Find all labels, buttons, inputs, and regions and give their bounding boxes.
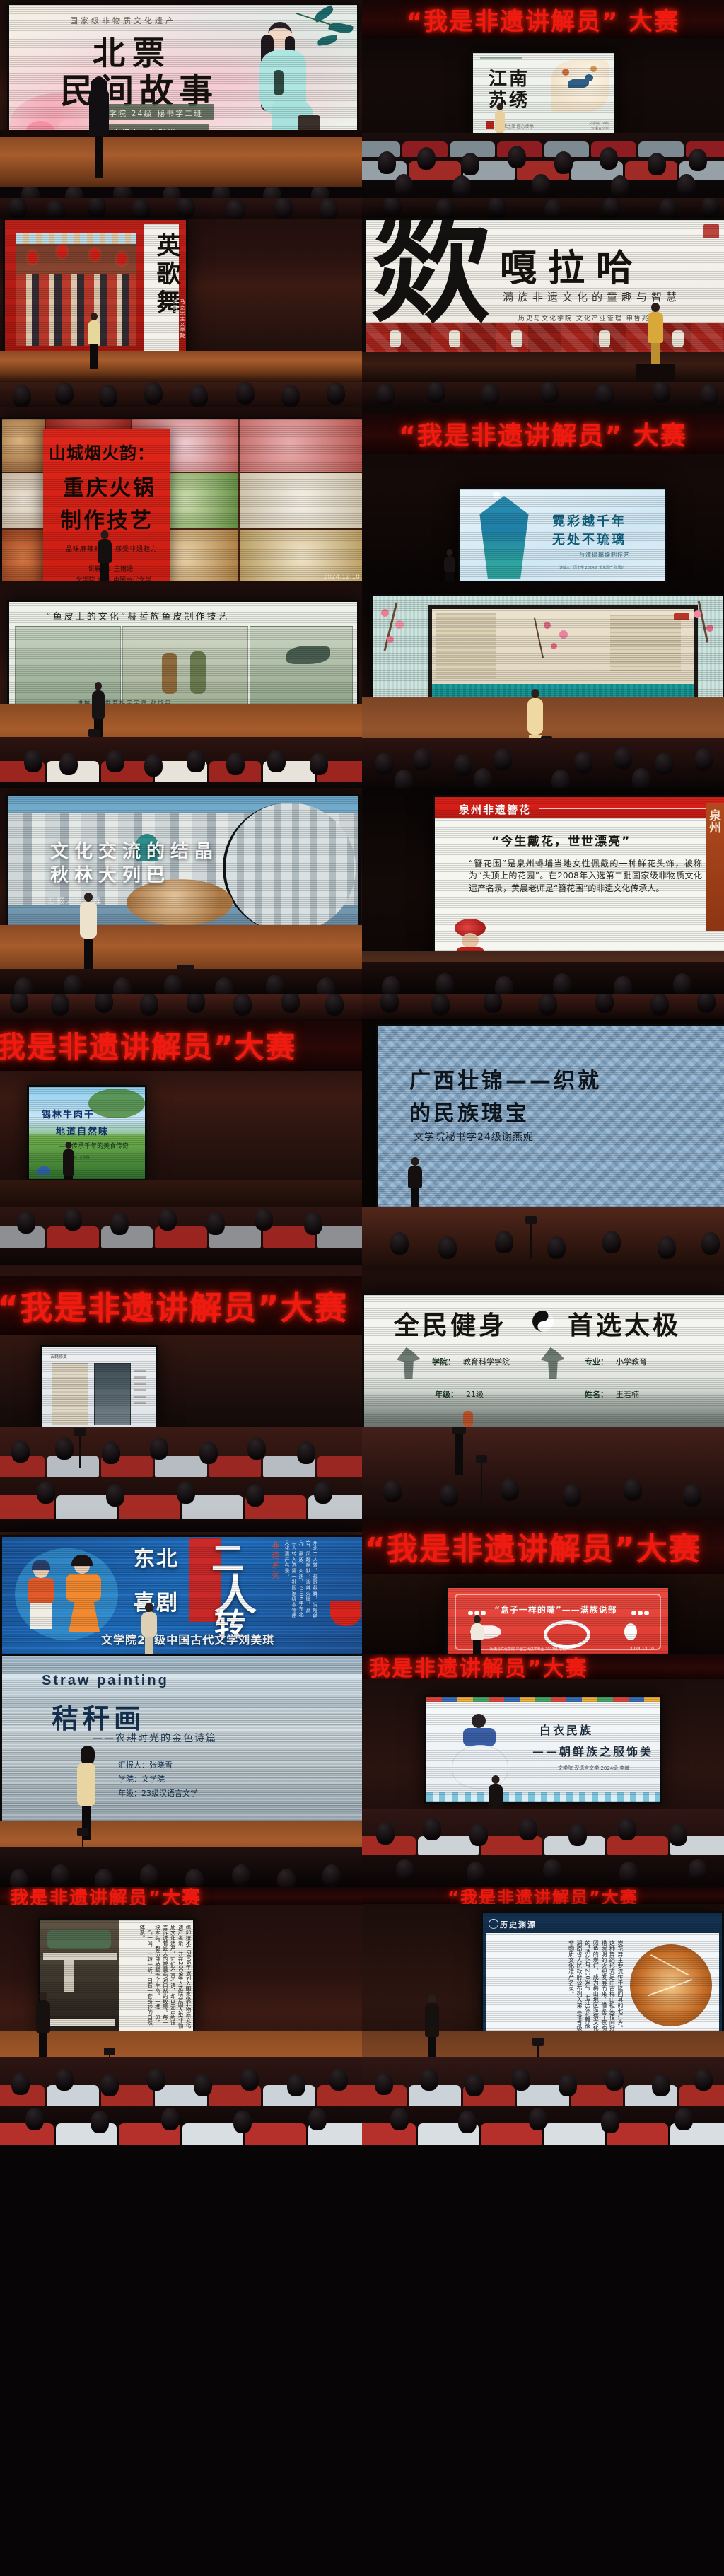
event-banner: 我是非遗讲解员”大赛 <box>0 1887 362 1905</box>
audience-area <box>0 737 362 788</box>
food-photo-tile <box>240 473 362 528</box>
audience-head <box>554 151 573 174</box>
slide-header: 历史渊源 <box>500 1919 537 1930</box>
audience-head <box>452 175 471 198</box>
stage-floor <box>0 351 362 382</box>
audience-head <box>164 975 182 994</box>
audience-head <box>21 187 40 198</box>
presenter-head <box>66 1142 72 1149</box>
seat <box>119 1495 180 1519</box>
calligraphy-block <box>610 615 681 671</box>
presenter-figure <box>85 313 103 368</box>
slide-mortise-tenon: 榫卯技术在2006年被列入国家级非物质文化遗产名录，并在2009年入选联合国人类… <box>40 1920 193 2033</box>
slide-gelaha: 欻 嘎拉哈 满族非遗文化的童趣与智慧 历史与文化学院 文化产业管理 申鲁兆 <box>366 220 724 354</box>
photo-cell-p08[interactable] <box>362 581 724 788</box>
audience-head <box>150 1437 168 1460</box>
audience-head <box>99 385 117 407</box>
audience-head <box>508 146 526 168</box>
slide-subtitle: 满族非遗文化的童趣与智慧 <box>503 289 681 304</box>
audience-head <box>396 1859 414 1881</box>
audience-head <box>11 1440 30 1463</box>
slide-xilin-beef: 锡林牛肉干 地道自然味 ——传承千年的美食传奇 学院：文学院 <box>29 1087 145 1179</box>
slide-chongqing-hotpot: 山城烟火韵： 重庆火锅 制作技艺 品味麻辣鲜香，感受非遗魅力 讲解人：王雨涵 文… <box>2 419 362 581</box>
slide-title-line2: 重庆火锅 <box>63 470 156 501</box>
audience-head <box>431 994 450 1016</box>
audience-head <box>614 976 632 994</box>
audience-head <box>611 175 629 198</box>
ink-landscape <box>364 1386 724 1427</box>
seat-row <box>0 2123 362 2145</box>
event-banner-text: “我是非遗讲解员”大赛 <box>448 1887 638 1904</box>
audience-front-row <box>0 198 362 219</box>
audience-area <box>0 2057 362 2145</box>
audience-area <box>362 738 724 788</box>
slide-title: “鱼皮上的文化”赫哲族鱼皮制作技艺 <box>46 609 229 622</box>
lantern-icon <box>90 248 100 261</box>
audience-head <box>327 382 345 405</box>
seat <box>317 1226 362 1248</box>
presenter-head <box>651 303 660 312</box>
bamboo-decoration <box>480 57 522 59</box>
audience-head <box>106 750 124 772</box>
led-screen: 欻 嘎拉哈 满族非遗文化的童趣与智慧 历史与文化学院 文化产业管理 申鲁兆 <box>363 218 724 356</box>
jade-ornament <box>511 330 522 347</box>
photo-cell-p01[interactable]: 国家级非物质文化遗产 北票 民间故事 文学院 24级 秘书学二班 介绍人：张雅琪 <box>0 0 362 198</box>
audience-head <box>24 750 42 772</box>
presenter-body <box>425 2003 439 2037</box>
lantern-icon <box>28 251 37 264</box>
seat <box>47 2085 98 2106</box>
audience-front-row <box>362 382 724 406</box>
audience-head <box>551 770 570 788</box>
presenter-figure <box>468 1615 486 1654</box>
audience-head <box>650 994 669 1016</box>
presenter-legs <box>145 1637 153 1654</box>
audience-head <box>395 174 413 197</box>
presenter-head <box>84 893 93 902</box>
presenter-body <box>80 902 97 939</box>
led-screen: 古籍修复 <box>40 1345 158 1427</box>
audience-head <box>539 994 557 1016</box>
audience-head <box>47 199 65 219</box>
presenter-legs <box>95 136 103 178</box>
audience-head <box>314 1481 332 1504</box>
artifact-photo <box>94 1363 131 1425</box>
audience-head <box>263 187 281 198</box>
presenter-body <box>98 539 112 563</box>
audience-head <box>378 151 396 174</box>
slide-title-left: 全民健身 <box>394 1305 507 1342</box>
audience-head <box>574 751 592 774</box>
presenter-legs <box>90 344 98 369</box>
audience-head <box>64 1208 82 1231</box>
calligraphy-block <box>436 613 496 678</box>
slide-title-line2: 无处不琉璃 <box>552 530 626 548</box>
audience-head <box>605 2068 624 2091</box>
audience-front-row <box>362 198 724 219</box>
camera-tripod <box>481 1461 482 1502</box>
audience-back-row <box>362 1207 724 1270</box>
event-banner-text: “我是非遗讲解员” 大赛 <box>399 415 687 452</box>
slide-harbin-bread: 文化交流的结晶 秋林大列巴 汇报人：李程 <box>8 796 358 940</box>
audience-head <box>382 976 400 994</box>
food-photo-tile <box>2 473 45 528</box>
slide-title-line2: 的民族瑰宝 <box>409 1096 530 1127</box>
audience-head <box>100 2074 119 2096</box>
lantern-icon <box>463 1411 473 1427</box>
presenter-body <box>471 1623 484 1640</box>
collage-row: 文化交流的结晶 秋林大列巴 汇报人：李程 <box>0 788 724 994</box>
slide-tag: 非遗系列 <box>269 1541 281 1581</box>
audience-head <box>277 1869 296 1887</box>
slide-credit: 讲解人：历史学 2024级 文化遗产 张思远 <box>559 565 625 570</box>
figure-illustration <box>162 653 177 694</box>
slide-title: 秸秆画 <box>52 1697 145 1736</box>
photo-cell-p07[interactable]: “鱼皮上的文化”赫哲族鱼皮制作技艺 讲解员：教育科学学院 赵欣冉 <box>0 581 362 788</box>
audience-head <box>10 994 28 1013</box>
slide-title-line1: 锡林牛肉干 <box>42 1107 95 1120</box>
audience-head <box>325 994 344 1016</box>
slide-credit-line1: 马克思主义学院 <box>179 299 186 339</box>
wood-piece <box>64 1960 74 1992</box>
presenter-head <box>101 530 109 539</box>
audience-head <box>233 2111 252 2133</box>
seat <box>317 1456 362 1477</box>
audience-head <box>701 198 720 219</box>
audience-head <box>474 768 492 788</box>
audience-head <box>144 382 163 405</box>
slide-title-line2: 秋林大列巴 <box>50 861 170 887</box>
plum-painting <box>537 617 586 661</box>
slide-title-line1: 霓彩越千年 <box>552 511 626 530</box>
audience-head <box>495 976 513 994</box>
presenter-body <box>88 320 100 344</box>
audience-head <box>669 1823 687 1846</box>
led-screen: “鱼皮上的文化”赫哲族鱼皮制作技艺 讲解员：教育科学学院 赵欣冉 <box>7 600 359 710</box>
presenter-body <box>527 698 543 735</box>
audience-area <box>0 187 362 198</box>
photo-cell-p11[interactable]: 我是非遗讲解员”大赛 锡林牛肉干 地道自然味 ——传承千年的美食传奇 学院：文学… <box>0 994 362 1207</box>
audience-head <box>675 2108 693 2130</box>
audience-area <box>362 962 724 994</box>
audience-head <box>632 768 650 788</box>
audience-area <box>362 2057 724 2145</box>
audience-head <box>64 975 82 994</box>
audience-head <box>458 2111 477 2133</box>
slide-ancient-books: 古籍修复 <box>42 1347 156 1427</box>
audience-head <box>595 383 614 406</box>
dot-ornament <box>631 1606 650 1619</box>
audience-head <box>106 1484 124 1507</box>
pagoda-sparkle <box>493 492 500 499</box>
presenter-figure <box>78 893 99 972</box>
audience-head <box>177 198 195 219</box>
slide-title-line1: 文化交流的结晶 <box>50 837 218 863</box>
presenter-figure <box>34 1992 52 2062</box>
presenter-head <box>90 313 98 320</box>
slide-credit: 历史与文化学院 文化产业管理 申鲁兆 <box>518 313 650 323</box>
led-screen: 山城烟火韵： 重庆火锅 制作技艺 品味麻辣鲜香，感受非遗魅力 讲解人：王雨涵 文… <box>0 417 362 581</box>
photo-cell-p17[interactable]: Straw painting 秸秆画 ——农耕时光的金色诗篇 汇报人：张晓雪 学… <box>0 1654 362 1887</box>
event-banner-text: 我是非遗讲解员”大赛 <box>369 1654 588 1679</box>
audience-head <box>161 2108 180 2130</box>
audience-head <box>13 385 31 407</box>
photo-cell-p19[interactable]: 我是非遗讲解员”大赛 榫卯技术在2006年被列入国家级非物质文化遗产名录，并在2… <box>0 1887 362 2145</box>
dragon-ornament <box>544 1620 590 1649</box>
field-major-value: 小学教育 <box>616 1356 647 1367</box>
presenter-body <box>36 2000 50 2033</box>
led-screen: Straw painting 秸秆画 ——农耕时光的金色诗篇 汇报人：张晓雪 学… <box>0 1654 362 1825</box>
audience-head <box>467 1862 485 1884</box>
presenter-figure <box>139 1603 160 1654</box>
slide-credit: 文学院24级中国古代文学刘美琪 <box>101 1630 274 1647</box>
tree-canopy <box>88 1089 145 1118</box>
led-screen: 历史渊源 炭花舞主要流传于隆回县的七江乡。这种舞蹈形式是由古梅山祖先夜间狩猎照明… <box>481 1911 724 2041</box>
audience-head <box>440 1484 458 1507</box>
slide-title-right: 首选太极 <box>568 1305 681 1342</box>
audience-head <box>140 994 158 1016</box>
sparks-photo <box>630 1944 712 2026</box>
audience-head <box>311 187 329 198</box>
led-screen: 全民健身 首选太极 学院： 教育科学学院 专业： 小学教育 年级： 21级 姓名… <box>362 1293 724 1427</box>
audience-head <box>652 2074 670 2096</box>
slide-date: 2024.12.10 <box>323 574 360 581</box>
audience-head <box>281 994 300 1013</box>
seal-stamp <box>674 613 689 620</box>
event-banner-text: 我是非遗讲解员”大赛 <box>10 1887 202 1905</box>
presenter-head <box>95 682 102 690</box>
audience-head <box>602 198 621 219</box>
bottom-pattern <box>426 1792 660 1802</box>
audience-head <box>454 754 472 777</box>
audience-head <box>308 2108 327 2130</box>
slide-title-line3: 制作技艺 <box>60 503 153 534</box>
seat <box>362 2123 416 2145</box>
audience-back-row <box>0 1207 362 1265</box>
presenter-head <box>145 1603 153 1612</box>
audience-front-row <box>0 382 362 407</box>
collage-row: 我是非遗讲解员”大赛 锡林牛肉干 地道自然味 ——传承千年的美食传奇 学院：文学… <box>0 994 724 1207</box>
audience-head <box>380 994 399 1013</box>
fishskin-panel <box>122 626 248 705</box>
audience-head <box>601 2111 619 2133</box>
slide-credit: 历史与文化学院 中国古代汉学专业 2023级 李凯 <box>490 1647 566 1652</box>
audience-head <box>494 748 512 771</box>
audience-head <box>481 383 499 406</box>
audience-head <box>88 198 106 218</box>
audience-head <box>413 748 431 771</box>
event-banner: 我是非遗讲解员”大赛 <box>0 1019 362 1071</box>
presenter-figure <box>441 549 458 581</box>
audience-head <box>689 1859 707 1881</box>
presenter-figure <box>406 1157 424 1207</box>
presenter-legs <box>445 572 454 581</box>
slide-title: “盒子一样的嘴”——满族说部 <box>494 1603 617 1615</box>
presenter-figure <box>85 76 113 182</box>
field-college-value: 教育科学学院 <box>463 1356 510 1367</box>
slide-fishskin: “鱼皮上的文化”赫哲族鱼皮制作技艺 讲解员：教育科学学院 赵欣冉 <box>9 602 357 708</box>
audience-head <box>495 1231 513 1253</box>
audience-head <box>658 1236 676 1259</box>
hanfu-lady-illustration <box>235 22 320 142</box>
seat-row <box>0 2085 362 2106</box>
photo-cell-p18[interactable]: 我是非遗讲解员”大赛 白衣民族 ——朝鲜族之服饰美 文学院 汉语言文学 2024… <box>362 1654 724 1887</box>
audience-head <box>51 994 69 1016</box>
event-banner-text: “我是非遗讲解员”大赛 <box>0 1282 348 1329</box>
audience-head <box>543 1859 561 1881</box>
audience-head <box>329 2068 348 2091</box>
audience-head <box>322 1864 341 1887</box>
photo-cell-p02[interactable]: “我是非遗讲解员” 大赛 江南 苏绣 苏绣之美 匠心传承 文学院 24级汉语言文… <box>362 0 724 198</box>
audience-head <box>420 2068 438 2091</box>
field-college-label: 学院： <box>432 1356 455 1367</box>
audience-head <box>375 753 393 775</box>
led-screen: 霓彩越千年 无处不琉璃 ——台湾琉璃烧制技艺 讲解人：历史学 2024级 文化遗… <box>458 487 667 581</box>
photo-cell-p14[interactable]: 全民健身 首选太极 学院： 教育科学学院 专业： 小学教育 年级： 21级 姓名… <box>362 1207 724 1427</box>
seat <box>409 161 460 180</box>
audience-head <box>158 1208 177 1231</box>
audience-head <box>102 1441 120 1464</box>
slide-title: 嘎拉哈 <box>500 238 644 291</box>
photo-cell-p20[interactable]: “我是非遗讲解员”大赛 历史渊源 炭花舞主要流传于隆回县的七江乡。这种舞蹈形式是… <box>362 1887 724 2145</box>
audience-back-row <box>0 994 362 1019</box>
photo-cell-p05[interactable]: 山城烟火韵： 重庆火锅 制作技艺 品味麻辣鲜香，感受非遗魅力 讲解人：王雨涵 文… <box>0 382 362 581</box>
photo-cell-p12[interactable]: 广西壮锦——织就 的民族瑰宝 文学院秘书学24级谢燕妮 <box>362 994 724 1207</box>
seat <box>47 1456 98 1477</box>
wood-piece <box>45 2019 115 2026</box>
audience-head <box>304 1212 322 1235</box>
audience-head <box>700 383 718 406</box>
event-banner: 我是非遗讲解员”大赛 <box>362 1654 724 1679</box>
podium <box>636 364 675 382</box>
presenter-figure <box>75 1747 98 1839</box>
audience-head <box>375 2072 393 2095</box>
audience-head <box>10 1869 28 1887</box>
audience-head <box>140 1864 158 1887</box>
color-stripe <box>426 1697 660 1702</box>
photo-cell-p09[interactable]: 文化交流的结晶 秋林大列巴 汇报人：李程 <box>0 788 362 994</box>
event-banner: “我是非遗讲解员”大赛 <box>362 1887 724 1904</box>
jade-ornament <box>390 330 401 347</box>
photo-cell-p10[interactable]: 泉州非遗簪花 “今生戴花，世世漂亮” “簪花围”是泉州蟳埔当地女性佩戴的一种鲜花… <box>362 788 724 994</box>
audience-head <box>8 198 27 219</box>
photo-cell-p03[interactable]: 英歌舞 马克思主义学院 讲解员：李梦璐 <box>0 198 362 382</box>
audience-head <box>247 1437 266 1460</box>
side-banner-text: 泉州 <box>705 809 723 833</box>
food-photo-tile <box>2 530 45 581</box>
slide-eyebrow: Straw painting <box>42 1673 169 1689</box>
circle-photo-inset <box>223 803 356 933</box>
presenter-head <box>428 1995 436 2003</box>
pagoda-illustration <box>470 496 538 579</box>
audience-head <box>59 753 78 775</box>
dancers-crowd <box>16 274 136 346</box>
audience-head <box>95 994 113 1013</box>
photo-cell-p06[interactable]: “我是非遗讲解员” 大赛 霓彩越千年 无处不琉璃 ——台湾琉璃烧制技艺 讲解人：… <box>362 382 724 581</box>
audience-head <box>17 1211 35 1234</box>
event-banner-text: “我是非遗讲解员” 大赛 <box>407 2 680 37</box>
presenter-body <box>408 1166 422 1188</box>
audience-area <box>362 133 724 198</box>
slide-subtitle: ——农耕时光的金色诗篇 <box>93 1731 217 1745</box>
presenter-legs <box>455 1434 463 1475</box>
audience-head <box>287 2074 305 2096</box>
slide-credit: 文学院 汉语言文学 2024级 李楠 <box>558 1765 630 1772</box>
slide-title-line2: 地道自然味 <box>56 1124 109 1137</box>
audience-head <box>95 1869 113 1887</box>
audience-back-row <box>0 1427 362 1532</box>
led-screen: 白衣民族 ——朝鲜族之服饰美 文学院 汉语言文学 2024级 李楠 <box>424 1695 662 1804</box>
collage-row: “我是非遗讲解员”大赛 古籍修复 全民 <box>0 1207 724 1427</box>
audience-head <box>547 1236 566 1259</box>
slide-body: 炭花舞主要流传于隆回县的七江乡。这种舞蹈形式是由古梅山祖先夜间狩猎照明的火把发展… <box>493 1940 624 2031</box>
audience-head <box>132 198 150 219</box>
slide-title-line1: 东北 <box>134 1541 179 1572</box>
photo-cell-p15[interactable]: 东北 喜剧 二 人 转 非遗系列 东北二人转，载歌载舞，说唱结合，风趣幽默，泼辣… <box>0 1427 362 1654</box>
jade-ornament <box>672 330 684 347</box>
slide-date: 2024.12.10 <box>630 1647 654 1652</box>
led-screen: 榫卯技术在2006年被列入国家级非物质文化遗产名录，并在2009年入选联合国人类… <box>38 1918 195 2036</box>
audience-head <box>215 977 233 994</box>
plum-branch <box>377 602 426 658</box>
artifact-label <box>134 1369 146 1404</box>
photo-cell-p16[interactable]: “我是非遗讲解员”大赛 “盒子一样的嘴”——满族说部 历史与文化学院 中国古代汉… <box>362 1427 724 1654</box>
audience-head <box>113 187 132 198</box>
audience-head <box>317 977 335 994</box>
led-screen: 东北 喜剧 二 人 转 非遗系列 东北二人转，载歌载舞，说唱结合，风趣幽默，泼辣… <box>0 1535 362 1654</box>
presenter-figure <box>450 1427 468 1478</box>
seat <box>245 2123 306 2145</box>
audience-head <box>390 1232 409 1255</box>
collage-row: 东北 喜剧 二 人 转 非遗系列 东北二人转，载歌载舞，说唱结合，风趣幽默，泼辣… <box>0 1427 724 1654</box>
slide-title-line2: ——朝鲜族之服饰美 <box>532 1742 653 1759</box>
slide-taichi: 全民健身 首选太极 学院： 教育科学学院 专业： 小学教育 年级： 21级 姓名… <box>364 1295 724 1427</box>
camera-tripod <box>530 1222 532 1258</box>
photo-cell-p13[interactable]: “我是非遗讲解员”大赛 古籍修复 <box>0 1207 362 1427</box>
audience-head <box>297 1441 315 1464</box>
audience-head <box>376 1822 395 1845</box>
audience-area <box>362 1809 724 1887</box>
event-banner-text: “我是非遗讲解员”大赛 <box>365 1524 701 1569</box>
audience-head <box>226 199 245 219</box>
slide-credit-line1: 文学院 24级 秘书学二班 <box>100 108 203 119</box>
slide-quanzhou-zanhua: 泉州非遗簪花 “今生戴花，世世漂亮” “簪花围”是泉州蟳埔当地女性佩戴的一种鲜花… <box>435 797 724 974</box>
collage-row: 国家级非物质文化遗产 北票 民间故事 文学院 24级 秘书学二班 介绍人：张雅琪 <box>0 0 724 198</box>
slide-eyebrow: 国家级非物质文化遗产 <box>70 15 176 26</box>
audience-head <box>465 2074 484 2096</box>
audience-head <box>185 1869 204 1887</box>
audience-head <box>11 2072 30 2095</box>
collage-row: “鱼皮上的文化”赫哲族鱼皮制作技艺 讲解员：教育科学学院 赵欣冉 <box>0 581 724 788</box>
audience-head <box>144 754 163 777</box>
audience-back-row <box>362 1427 724 1526</box>
audience-head <box>673 973 691 994</box>
audience-head <box>618 1818 636 1840</box>
audience-head <box>461 153 479 175</box>
slide-hanbok: 白衣民族 ——朝鲜族之服饰美 文学院 汉语言文学 2024级 李楠 <box>426 1697 660 1802</box>
presenter-body <box>92 690 105 719</box>
presenter-head <box>532 689 539 698</box>
audience-head <box>512 2068 530 2091</box>
photo-cell-p04[interactable]: 欻 嘎拉哈 满族非遗文化的童趣与智慧 历史与文化学院 文化产业管理 申鲁兆 <box>362 198 724 382</box>
audience-head <box>232 1864 250 1887</box>
presenter-legs <box>411 1188 419 1207</box>
slide-errenzhuan: 东北 喜剧 二 人 转 非遗系列 东北二人转，载歌载舞，说唱结合，风趣幽默，泼辣… <box>2 1537 362 1654</box>
audience-head <box>529 2108 547 2130</box>
event-banner: “我是非遗讲解员”大赛 <box>0 1276 362 1335</box>
presenter-body <box>648 312 663 343</box>
slide-quote: “今生戴花，世世漂亮” <box>491 831 631 849</box>
